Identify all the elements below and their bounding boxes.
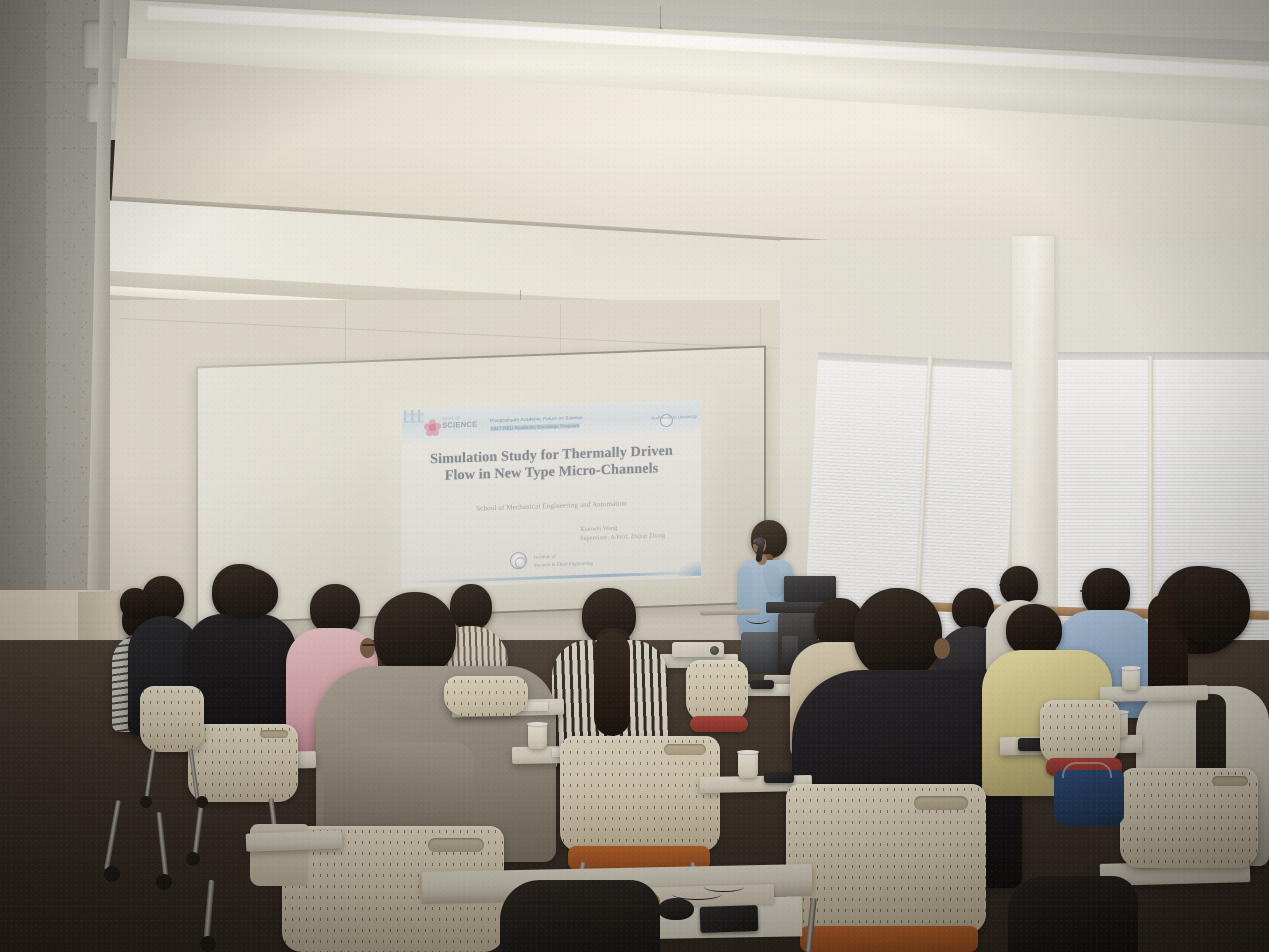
chair-caster xyxy=(140,796,152,808)
projector[interactable] xyxy=(672,642,724,657)
slide-title: Simulation Study for Thermally Driven Fl… xyxy=(402,442,701,487)
chair-back[interactable] xyxy=(1120,768,1258,868)
desk xyxy=(246,830,343,851)
chair-perforation xyxy=(686,660,748,722)
person-arm xyxy=(324,742,474,838)
chair-handle xyxy=(664,744,706,755)
chair-back[interactable] xyxy=(188,724,298,802)
person-ponytail xyxy=(594,632,630,736)
glasses-icon xyxy=(999,584,1011,586)
chair-caster xyxy=(200,936,216,952)
paper-cup xyxy=(528,724,547,749)
chair-back[interactable] xyxy=(140,686,204,752)
chair-seat[interactable] xyxy=(690,716,748,732)
chair-perforation xyxy=(1040,700,1120,764)
person-head xyxy=(374,592,456,676)
lecture-room-photo: WHAT IS SCIENCE Postgraduate Academic Fo… xyxy=(0,0,1269,952)
glasses-icon xyxy=(1080,590,1094,592)
slide-header-org: Northeastern University xyxy=(651,414,697,421)
person-head xyxy=(1176,568,1250,644)
slide-corner-accent xyxy=(675,560,701,577)
slide-logo-text: SCIENCE xyxy=(442,420,477,430)
institute-seal-icon xyxy=(510,552,527,570)
microphone-head xyxy=(755,537,765,547)
computer-mouse[interactable] xyxy=(658,898,694,920)
audience-member xyxy=(500,880,660,952)
chair-caster xyxy=(186,852,200,866)
cable xyxy=(704,882,744,892)
smartphone[interactable] xyxy=(700,905,759,933)
projector-lens-icon xyxy=(710,646,719,655)
slide-banner-line-2: 2017 NEU Academic Exchange Program xyxy=(490,423,580,431)
chair-back[interactable] xyxy=(1040,700,1120,764)
institute-line-2: Vacuum & Fluid Engineering xyxy=(534,560,593,570)
person-head xyxy=(1006,604,1062,656)
slide-banner-line-1: Postgraduate Academic Forum on Science xyxy=(490,415,583,423)
paper-cup xyxy=(738,752,758,778)
chair-handle xyxy=(260,730,288,738)
chair-caster xyxy=(196,796,208,808)
slide-supervisor: Supervisor: A/Prof. Zhijun Zhang xyxy=(580,531,665,543)
audience-member xyxy=(1008,876,1138,952)
mic-stand-rail xyxy=(700,609,760,615)
chair-caster xyxy=(104,866,120,882)
chair-back[interactable] xyxy=(444,676,528,716)
person-head xyxy=(854,588,942,678)
chair-caster xyxy=(156,874,172,890)
slide-institute-block: Institute of Vacuum & Fluid Engineering xyxy=(534,553,593,570)
chair-handle xyxy=(428,838,484,852)
audio-cable xyxy=(746,614,770,624)
bag-handle xyxy=(1062,762,1112,778)
chair-back[interactable] xyxy=(686,660,748,722)
chair-back[interactable] xyxy=(786,784,986,934)
chair-seat[interactable] xyxy=(800,926,978,952)
glasses-icon xyxy=(362,644,384,646)
checker-pattern-icon xyxy=(404,409,424,423)
slide-school-line: School of Mechanical Engineering and Aut… xyxy=(402,497,701,515)
backpack xyxy=(1054,770,1124,826)
audience-member xyxy=(316,592,556,862)
chair-back[interactable] xyxy=(560,736,720,852)
chair-perforation xyxy=(444,676,528,716)
person-ear xyxy=(360,638,375,658)
person-ear xyxy=(934,638,950,659)
person-head xyxy=(120,588,150,618)
slide-author-block: Xiaowei Wang Supervisor: A/Prof. Zhijun … xyxy=(580,522,665,543)
chair-perforation xyxy=(140,686,204,752)
chair-handle xyxy=(914,796,968,810)
flower-logo-icon xyxy=(424,419,441,437)
ceiling-hanging-wire xyxy=(660,6,661,30)
paper-cup xyxy=(1122,668,1140,690)
person-head xyxy=(218,568,278,618)
smartphone[interactable] xyxy=(764,772,794,783)
projected-slide: WHAT IS SCIENCE Postgraduate Academic Fo… xyxy=(402,400,701,588)
chair-handle xyxy=(1212,776,1248,786)
smartphone[interactable] xyxy=(750,680,774,689)
